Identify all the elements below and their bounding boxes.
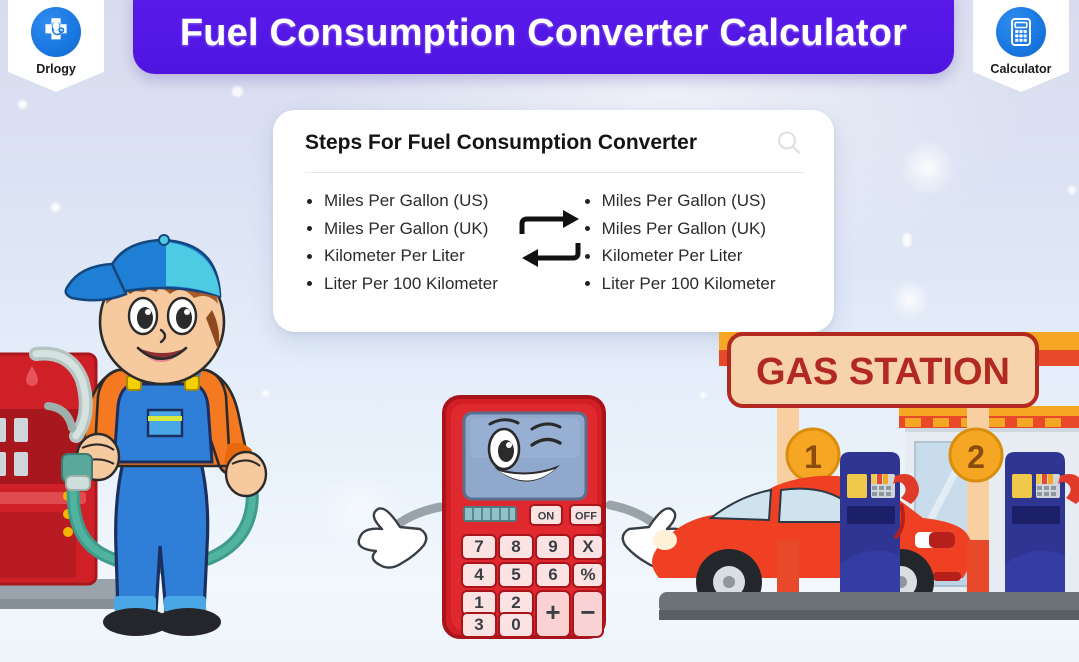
solar-strip	[464, 507, 516, 521]
steps-card-header: Steps For Fuel Consumption Converter	[305, 128, 804, 173]
calculator-badge[interactable]: Calculator	[973, 0, 1069, 92]
steps-card-body: Miles Per Gallon (US) Miles Per Gallon (…	[305, 173, 804, 297]
gas-station-sign: GAS STATION	[729, 334, 1037, 406]
svg-text:5: 5	[511, 565, 520, 584]
list-item: Miles Per Gallon (US)	[583, 187, 804, 215]
svg-text:2: 2	[511, 593, 520, 612]
medical-cross-stethoscope-icon	[31, 7, 81, 57]
page-title: Fuel Consumption Converter Calculator	[180, 12, 907, 55]
pump-number-1: 1	[787, 429, 839, 481]
svg-text:OFF: OFF	[575, 511, 597, 523]
calculator-badge-label: Calculator	[990, 62, 1051, 76]
list-item: Miles Per Gallon (UK)	[305, 215, 517, 243]
brand-badge-drlogy[interactable]: Drlogy	[8, 0, 104, 92]
svg-text:−: −	[580, 597, 595, 627]
brand-badge-label: Drlogy	[36, 62, 76, 76]
bokeh-dot	[232, 86, 243, 97]
swap-icon-wrapper	[517, 209, 583, 275]
bokeh-dot	[903, 233, 911, 247]
svg-text:6: 6	[548, 565, 557, 584]
list-item: Kilometer Per Liter	[305, 242, 517, 270]
from-units-column: Miles Per Gallon (US) Miles Per Gallon (…	[305, 187, 517, 297]
svg-text:2: 2	[967, 439, 985, 475]
list-item: Liter Per 100 Kilometer	[305, 270, 517, 298]
illustration-calculator-mascot: ON OFF 7 8 9 X 4 5 6 % 1 2 3 0 + −	[352, 387, 697, 662]
bokeh-dot	[18, 100, 27, 109]
search-icon[interactable]	[774, 128, 804, 158]
bokeh-dot	[51, 203, 60, 212]
svg-text:1: 1	[804, 439, 822, 475]
list-item: Miles Per Gallon (UK)	[583, 215, 804, 243]
svg-text:+: +	[545, 597, 560, 627]
svg-text:7: 7	[474, 537, 483, 556]
list-item: Liter Per 100 Kilometer	[583, 270, 804, 298]
fuel-consumption-converter-banner: Fuel Consumption Converter Calculator Dr…	[0, 0, 1079, 662]
illustration-gas-station: GAS STATION 1 2	[719, 324, 1079, 654]
illustration-boy-with-fuel-pump	[0, 224, 326, 644]
svg-text:GAS STATION: GAS STATION	[756, 351, 1010, 393]
svg-text:X: X	[582, 537, 594, 556]
svg-text:3: 3	[474, 615, 483, 634]
svg-text:9: 9	[548, 537, 557, 556]
steps-card-heading: Steps For Fuel Consumption Converter	[305, 131, 697, 155]
calculator-icon	[996, 7, 1046, 57]
svg-text:4: 4	[474, 565, 484, 584]
bokeh-glow	[900, 140, 956, 196]
list-item: Miles Per Gallon (US)	[305, 187, 517, 215]
bokeh-dot	[700, 392, 706, 398]
steps-card: Steps For Fuel Consumption Converter Mil…	[273, 110, 834, 332]
bokeh-dot	[1068, 186, 1076, 194]
bokeh-glow	[890, 280, 930, 320]
page-title-banner: Fuel Consumption Converter Calculator	[133, 0, 954, 74]
svg-text:8: 8	[511, 537, 520, 556]
svg-text:1: 1	[474, 593, 483, 612]
pump-number-2: 2	[950, 429, 1002, 481]
svg-text:0: 0	[511, 615, 520, 634]
to-units-column: Miles Per Gallon (US) Miles Per Gallon (…	[583, 187, 804, 297]
svg-text:%: %	[580, 565, 595, 584]
exchange-arrows-icon	[517, 209, 583, 269]
list-item: Kilometer Per Liter	[583, 242, 804, 270]
svg-text:ON: ON	[538, 511, 555, 523]
